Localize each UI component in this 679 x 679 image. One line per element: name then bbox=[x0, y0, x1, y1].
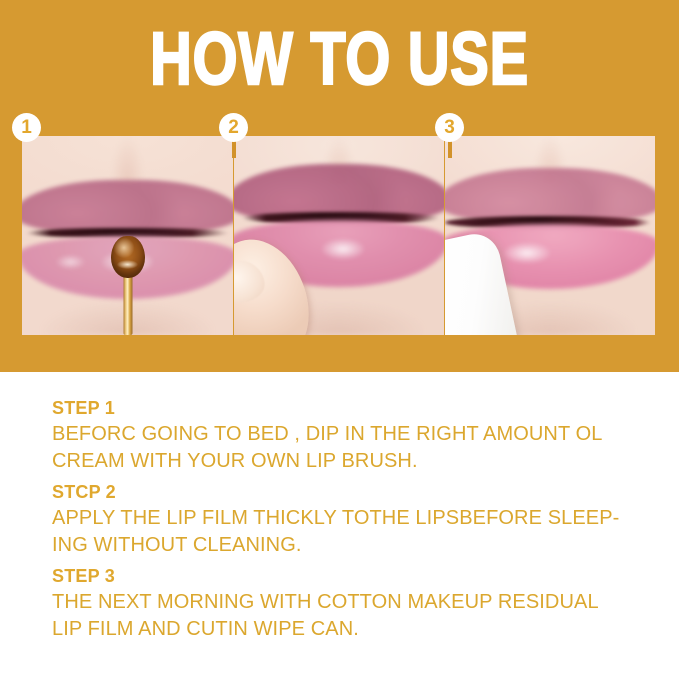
step-badge-2: 2 bbox=[219, 113, 248, 142]
instructions-list: STEP 1 BEFORC GOING TO BED , DIP IN THE … bbox=[52, 396, 652, 648]
step-image-1 bbox=[22, 136, 233, 335]
philtrum-shadow-1 bbox=[111, 136, 145, 184]
step-3-body: THE NEXT MORNING WITH COTTON MAKEUP RESI… bbox=[52, 589, 652, 643]
step-2-body: APPLY THE LIP FILM THICKLY TOTHE LIPSBEF… bbox=[52, 505, 652, 559]
step-3-title: STEP 3 bbox=[52, 564, 652, 589]
page-title: HOW TO USE bbox=[75, 22, 605, 96]
step-badge-3: 3 bbox=[435, 113, 464, 142]
step-image-3 bbox=[445, 136, 655, 335]
step-badge-1: 1 bbox=[12, 113, 41, 142]
photo-strip bbox=[22, 136, 657, 335]
hero-banner: HOW TO USE bbox=[0, 0, 679, 372]
step-2-title: STCP 2 bbox=[52, 480, 652, 505]
step-1-body: BEFORC GOING TO BED , DIP IN THE RIGHT A… bbox=[52, 421, 652, 475]
how-to-use-infographic: HOW TO USE bbox=[0, 0, 679, 679]
fingernail-icon bbox=[234, 258, 267, 307]
step-1-title: STEP 1 bbox=[52, 396, 652, 421]
step-image-2 bbox=[234, 136, 444, 335]
applicator-wand-tip-icon bbox=[111, 236, 145, 278]
